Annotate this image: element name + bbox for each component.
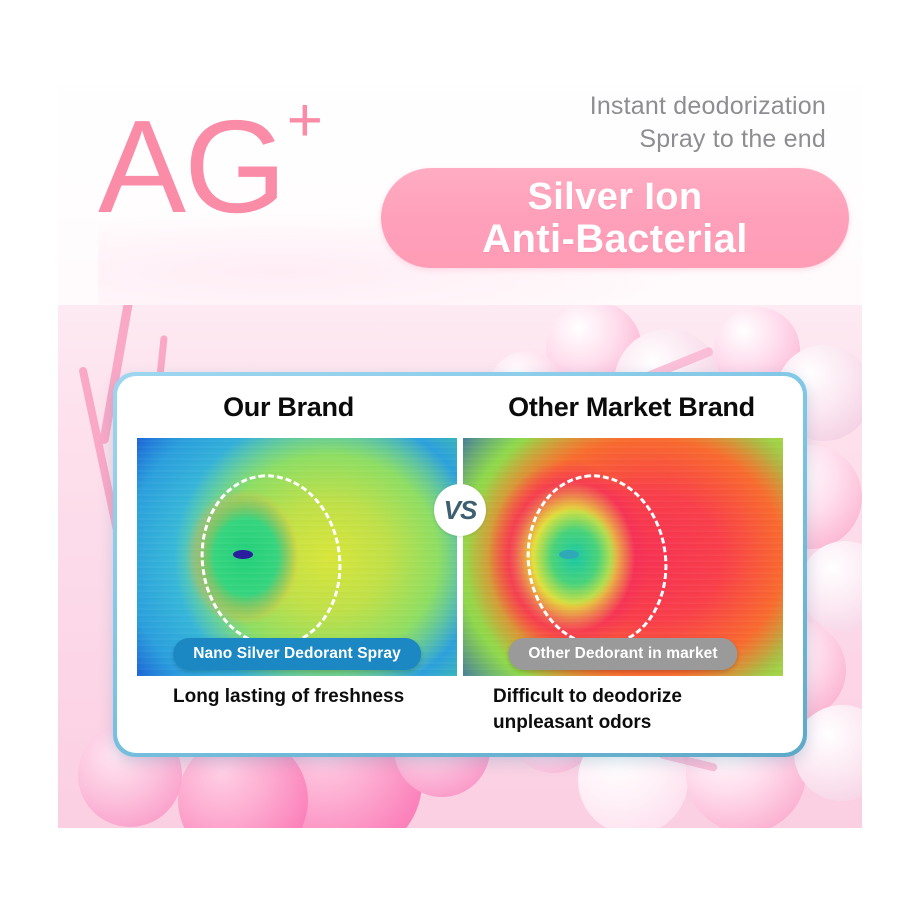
brand-logo-ag-plus: AG+ [98,112,321,222]
thermal-core-hotspot [559,550,579,559]
comparison-headings: Our Brand Other Market Brand [117,376,803,438]
caption-other-line-1: Difficult to deodorize [493,684,783,710]
brand-logo-text: AG [98,93,285,240]
thermal-core-hotspot [233,550,253,559]
molecule-sphere [800,541,862,631]
header-tagline: Instant deodorization Spray to the end [590,90,826,156]
pill-label-other-brand: Other Dedorant in market [508,638,737,670]
thermal-image-our-brand: Nano Silver Dedorant Spray [137,438,457,676]
caption-our-brand: Long lasting of freshness [137,684,463,753]
thermal-image-other-brand: Other Dedorant in market [463,438,783,676]
comparison-card: Our Brand Other Market Brand Nano Silver… [113,372,807,757]
vs-badge: VS [434,484,486,536]
comparison-card-inner: Our Brand Other Market Brand Nano Silver… [117,376,803,753]
tagline-line-2: Spray to the end [590,123,826,156]
brand-logo-plus-icon: + [287,86,321,155]
poster-content-area: AG+ Instant deodorization Spray to the e… [58,62,862,828]
tagline-line-1: Instant deodorization [590,90,826,123]
column-divider [457,438,463,676]
header-band: AG+ Instant deodorization Spray to the e… [58,62,862,305]
poster-canvas: AG+ Instant deodorization Spray to the e… [0,0,900,900]
badge-line-2: Anti-Bacterial [482,218,748,260]
silver-ion-badge: Silver Ion Anti-Bacterial [381,168,849,268]
heading-other-brand: Other Market Brand [460,376,803,438]
pill-label-our-brand: Nano Silver Dedorant Spray [173,638,421,670]
caption-other-brand: Difficult to deodorize unpleasant odors [463,684,783,753]
caption-other-line-2: unpleasant odors [493,710,783,736]
comparison-captions: Long lasting of freshness Difficult to d… [137,684,783,753]
badge-line-1: Silver Ion [527,176,702,218]
heading-our-brand: Our Brand [117,376,460,438]
